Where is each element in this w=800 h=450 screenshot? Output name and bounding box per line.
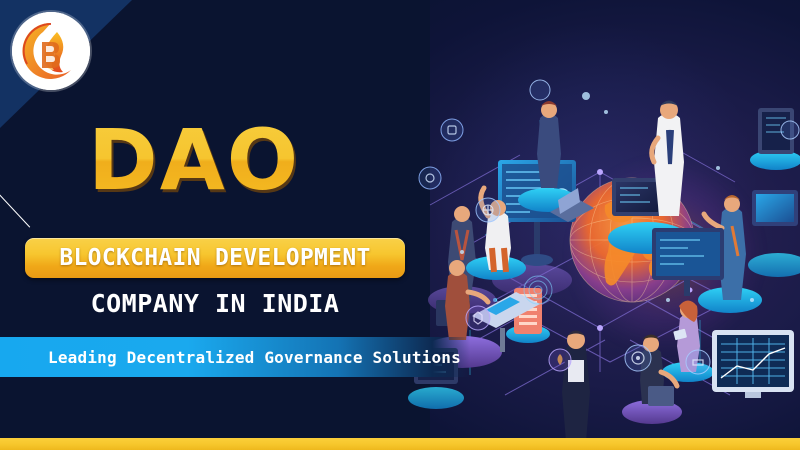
headline-pill-label: BLOCKCHAIN DEVELOPMENT [59, 245, 370, 271]
flame-logo-icon [12, 12, 90, 90]
isometric-illustration [400, 0, 800, 450]
headline-subtitle: COMPANY IN INDIA [25, 288, 405, 318]
tagline-bar: Leading Decentralized Governance Solutio… [0, 337, 470, 377]
monitor-chart-bottom-right [712, 330, 794, 398]
tagline-text: Leading Decentralized Governance Solutio… [48, 348, 461, 367]
headline-pill: BLOCKCHAIN DEVELOPMENT [25, 238, 405, 278]
flame-logo[interactable] [12, 12, 90, 90]
monitor-right-top [748, 190, 800, 277]
illustration-svg [400, 0, 800, 450]
figure-red-platform [543, 331, 607, 450]
promo-banner: DAO BLOCKCHAIN DEVELOPMENT COMPANY IN IN… [0, 0, 800, 450]
page-title: DAO [88, 118, 300, 202]
bottom-gold-bar [0, 438, 800, 450]
